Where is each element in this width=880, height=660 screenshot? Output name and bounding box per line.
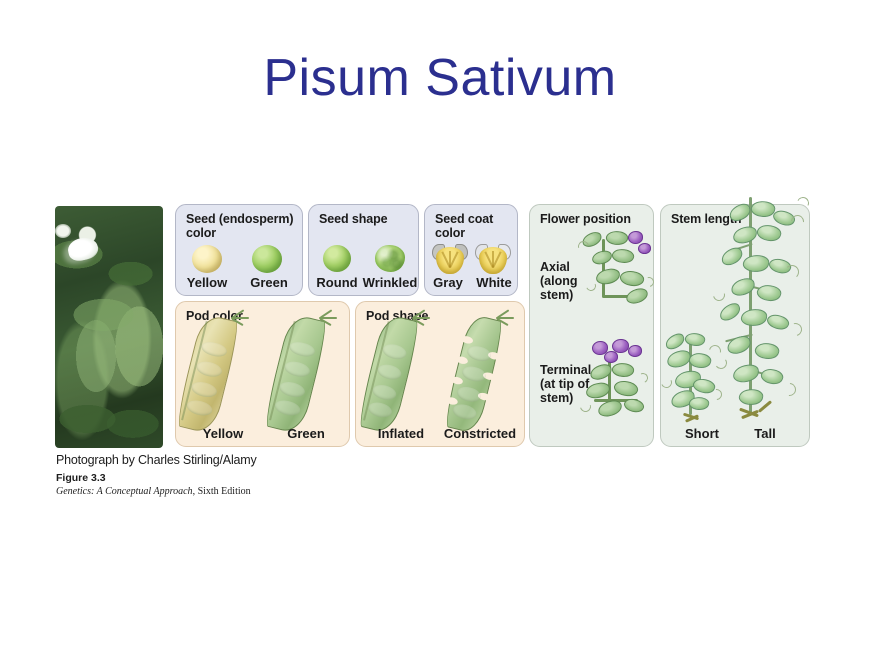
panel-title: Seed (endosperm) color: [186, 212, 293, 240]
trait-label-inflated: Inflated: [358, 426, 444, 441]
trait-label-round: Round: [309, 275, 365, 290]
pod-yellow-icon: [175, 313, 242, 435]
seed-green-icon: [252, 245, 282, 273]
photo-white-bud-icon: [55, 224, 71, 238]
trait-label-tall: Tall: [733, 426, 797, 441]
pod-constricted-stalk-icon: [496, 311, 518, 325]
source-edition: , Sixth Edition: [193, 486, 251, 497]
trait-label-gray: Gray: [425, 275, 471, 290]
trait-label-green: Green: [240, 275, 298, 290]
pod-constricted-icon: [443, 313, 506, 434]
pod-inflated-stalk-icon: [412, 311, 434, 325]
trait-label-pod-green: Green: [264, 426, 348, 441]
pod-inflated-icon: [357, 313, 422, 435]
panel-pod-shape[interactable]: Pod shape: [355, 301, 525, 447]
trait-label-short: Short: [667, 426, 737, 441]
panel-title: Seed coat color: [435, 212, 493, 240]
tall-plant-illustration: [713, 197, 817, 429]
pea-plant-photograph: [55, 206, 163, 448]
slide-canvas: Pisum Sativum Seed (endosperm) color Yel…: [0, 0, 880, 660]
pod-green-icon: [263, 313, 330, 435]
panel-seed-coat-color[interactable]: Seed coat color Gray White: [424, 204, 518, 296]
figure-source: Genetics: A Conceptual Approach, Sixth E…: [56, 486, 251, 497]
seed-coat-gray-icon: [433, 243, 467, 275]
panel-pod-color[interactable]: Pod color: [175, 301, 350, 447]
trait-label-axial: Axial (along stem): [540, 260, 578, 302]
panel-title: Flower position: [540, 212, 631, 226]
trait-label-yellow: Yellow: [178, 275, 236, 290]
trait-label-wrinkled: Wrinkled: [359, 275, 421, 290]
axial-plant-illustration: [586, 229, 652, 309]
photo-credit: Photograph by Charles Stirling/Alamy: [56, 453, 257, 467]
seed-round-icon: [323, 245, 351, 272]
trait-label-constricted: Constricted: [434, 426, 526, 441]
source-title: Genetics: A Conceptual Approach: [56, 486, 193, 497]
pod-green-stalk-icon: [319, 311, 341, 325]
panel-seed-shape[interactable]: Seed shape Round Wrinkled: [308, 204, 419, 296]
page-title: Pisum Sativum: [0, 48, 880, 108]
seed-wrinkled-icon: [375, 245, 405, 272]
seed-yellow-icon: [192, 245, 222, 273]
trait-label-white: White: [469, 275, 519, 290]
panel-seed-endosperm-color[interactable]: Seed (endosperm) color Yellow Green: [175, 204, 303, 296]
terminal-plant-illustration: [582, 339, 652, 431]
trait-label-pod-yellow: Yellow: [180, 426, 266, 441]
panel-stem-length[interactable]: Stem length: [660, 204, 810, 447]
seed-coat-white-icon: [476, 243, 510, 275]
panel-flower-position[interactable]: Flower position Axial (along stem): [529, 204, 654, 447]
panel-title: Seed shape: [319, 212, 387, 226]
pod-yellow-stalk-icon: [231, 311, 253, 325]
figure-number: Figure 3.3: [56, 472, 106, 484]
